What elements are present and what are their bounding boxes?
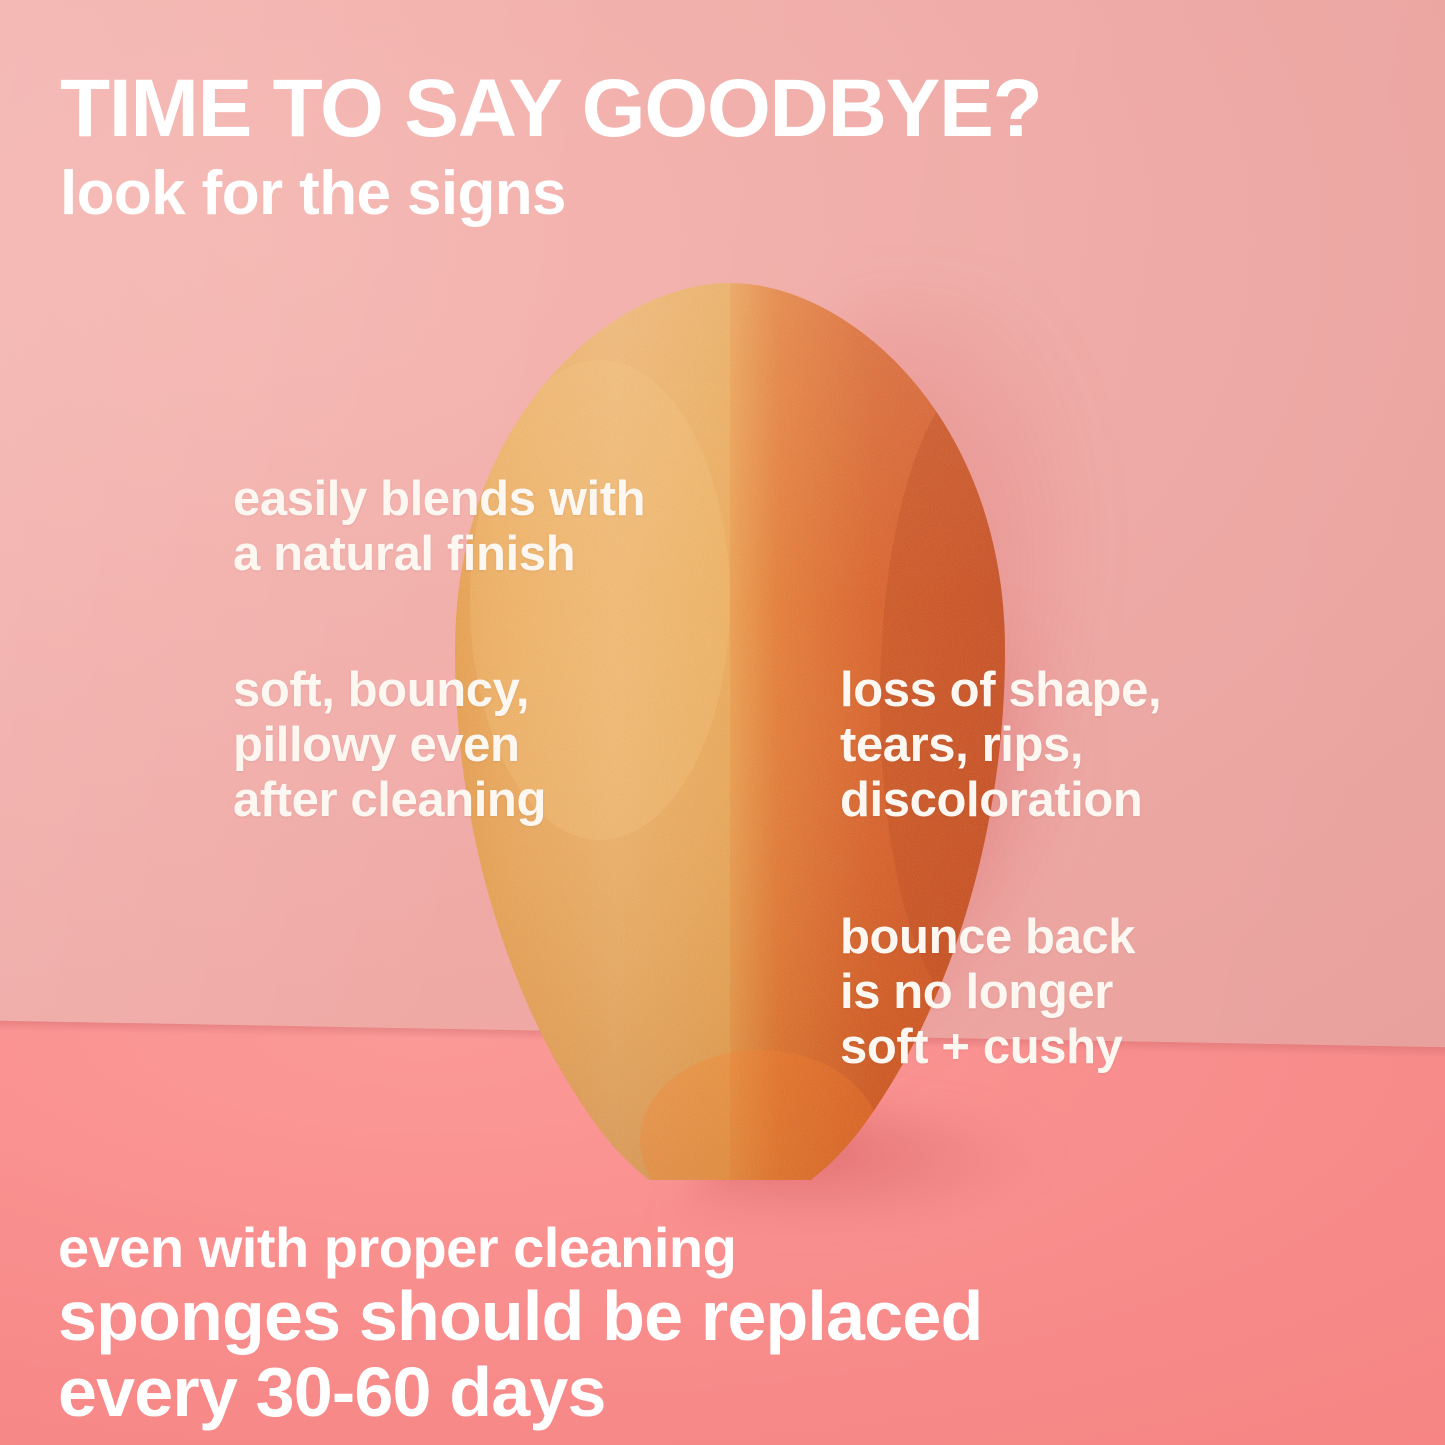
footer-message: even with proper cleaning sponges should… (58, 1218, 1358, 1431)
page-subtitle: look for the signs (60, 163, 566, 225)
infographic-canvas: TIME TO SAY GOODBYE? look for the signs … (0, 0, 1445, 1445)
page-title: TIME TO SAY GOODBYE? (60, 68, 1041, 150)
footer-line-emphasis: sponges should be replaced every 30-60 d… (58, 1279, 1358, 1430)
footer-line-primary: even with proper cleaning (58, 1218, 1358, 1277)
callout-good-blending: easily blends with a natural finish (233, 472, 645, 582)
callout-good-texture: soft, bouncy, pillowy even after cleanin… (233, 663, 546, 828)
callout-bad-shape: loss of shape, tears, rips, discoloratio… (840, 663, 1161, 828)
callout-bad-bounce: bounce back is no longer soft + cushy (840, 910, 1135, 1075)
